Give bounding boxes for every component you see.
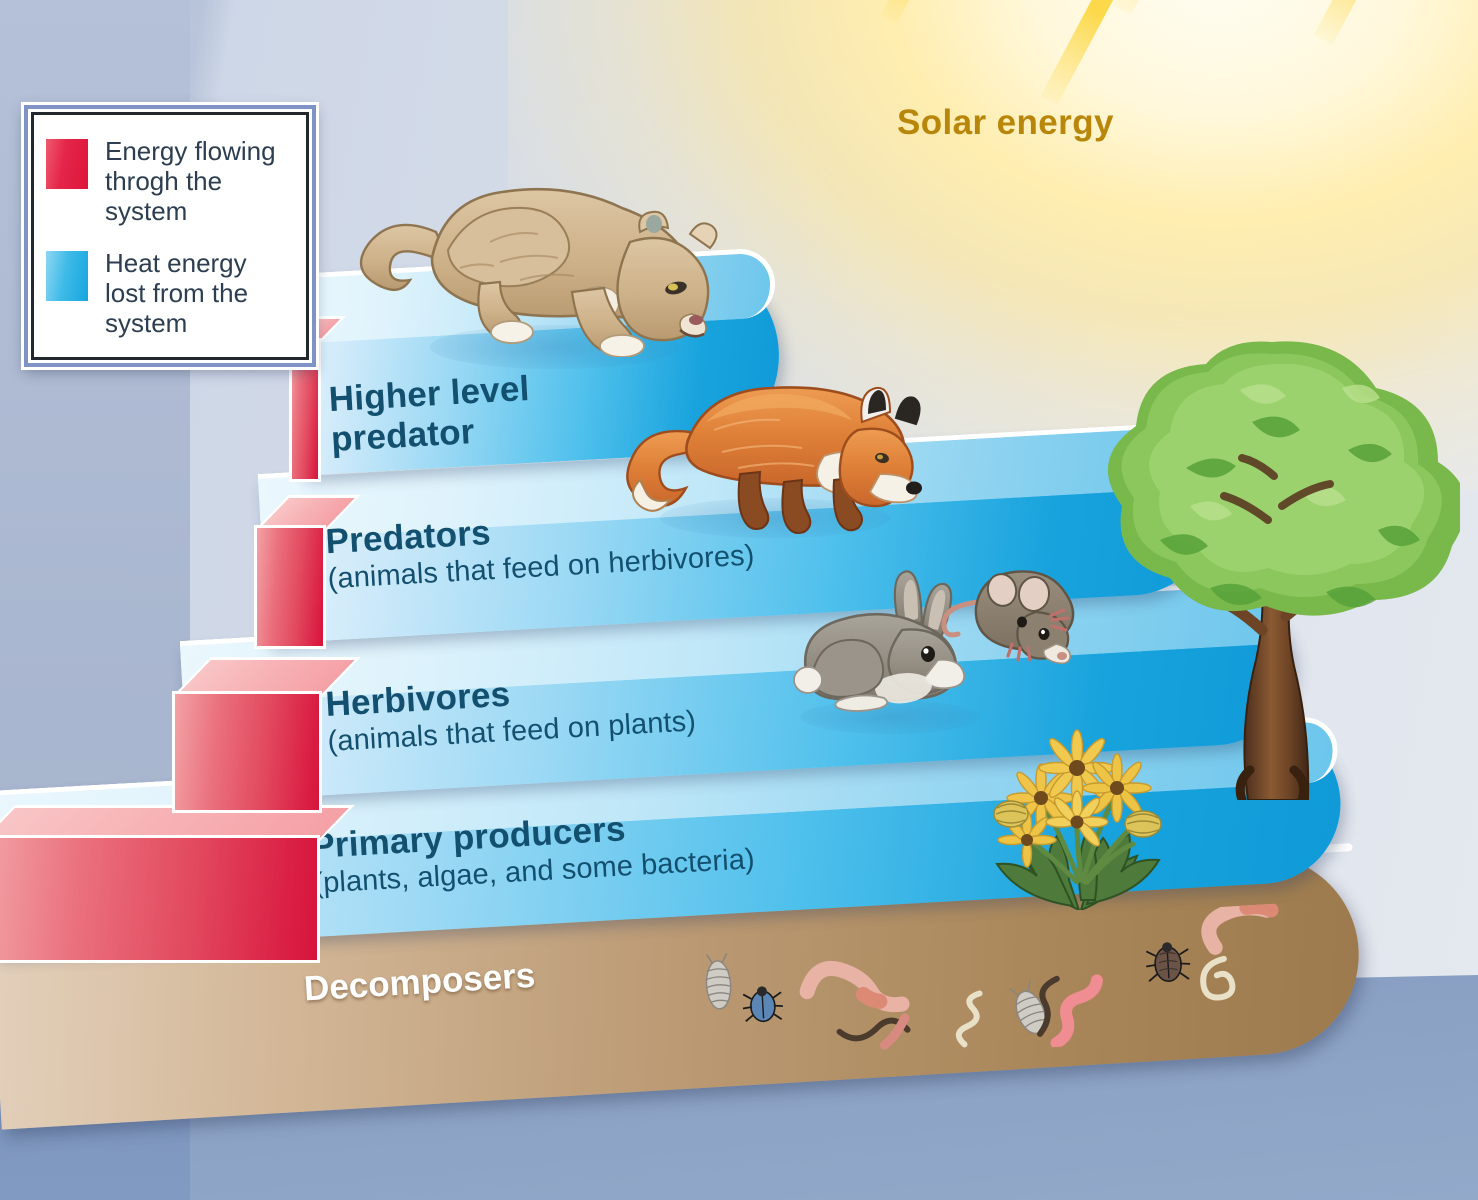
legend-inner-frame: Energy flowing throgh the system Heat en… xyxy=(31,112,309,360)
earthworm-icon xyxy=(1053,980,1100,1043)
nematode-icon xyxy=(956,993,982,1044)
earthworm-icon xyxy=(806,964,902,1010)
energy-step-herbivores xyxy=(172,657,322,813)
nematode-icon xyxy=(1202,958,1233,998)
beetle-icon xyxy=(742,985,784,1022)
beetle-icon xyxy=(1145,941,1191,983)
solar-energy-label: Solar energy xyxy=(897,103,1114,143)
legend-label-energy-flow: Energy flowing throgh the system xyxy=(105,136,276,226)
diagram-canvas: Solar energy xyxy=(0,0,1478,1200)
fox-illustration xyxy=(618,370,923,535)
label-higher-level-predator: Higher level predator xyxy=(328,369,533,460)
legend-item-energy-flow: Energy flowing throgh the system xyxy=(34,136,306,226)
energy-step-front xyxy=(172,691,322,813)
energy-step-primary-producers xyxy=(0,805,320,965)
legend-swatch-energy-flow xyxy=(46,139,88,189)
energy-step-front xyxy=(0,835,320,963)
legend-item-heat-loss: Heat energy lost from the system xyxy=(34,248,306,338)
legend-label-heat-loss: Heat energy lost from the system xyxy=(105,248,248,338)
dandelion-flowers-illustration xyxy=(975,690,1190,910)
energy-step-predators xyxy=(254,495,326,649)
mouse-illustration xyxy=(940,560,1090,670)
energy-step-front xyxy=(254,525,326,649)
cougar-illustration xyxy=(340,172,730,357)
legend-box[interactable]: Energy flowing throgh the system Heat en… xyxy=(24,105,316,367)
legend-swatch-heat-loss xyxy=(46,251,88,301)
woodlouse-icon xyxy=(705,953,732,1009)
